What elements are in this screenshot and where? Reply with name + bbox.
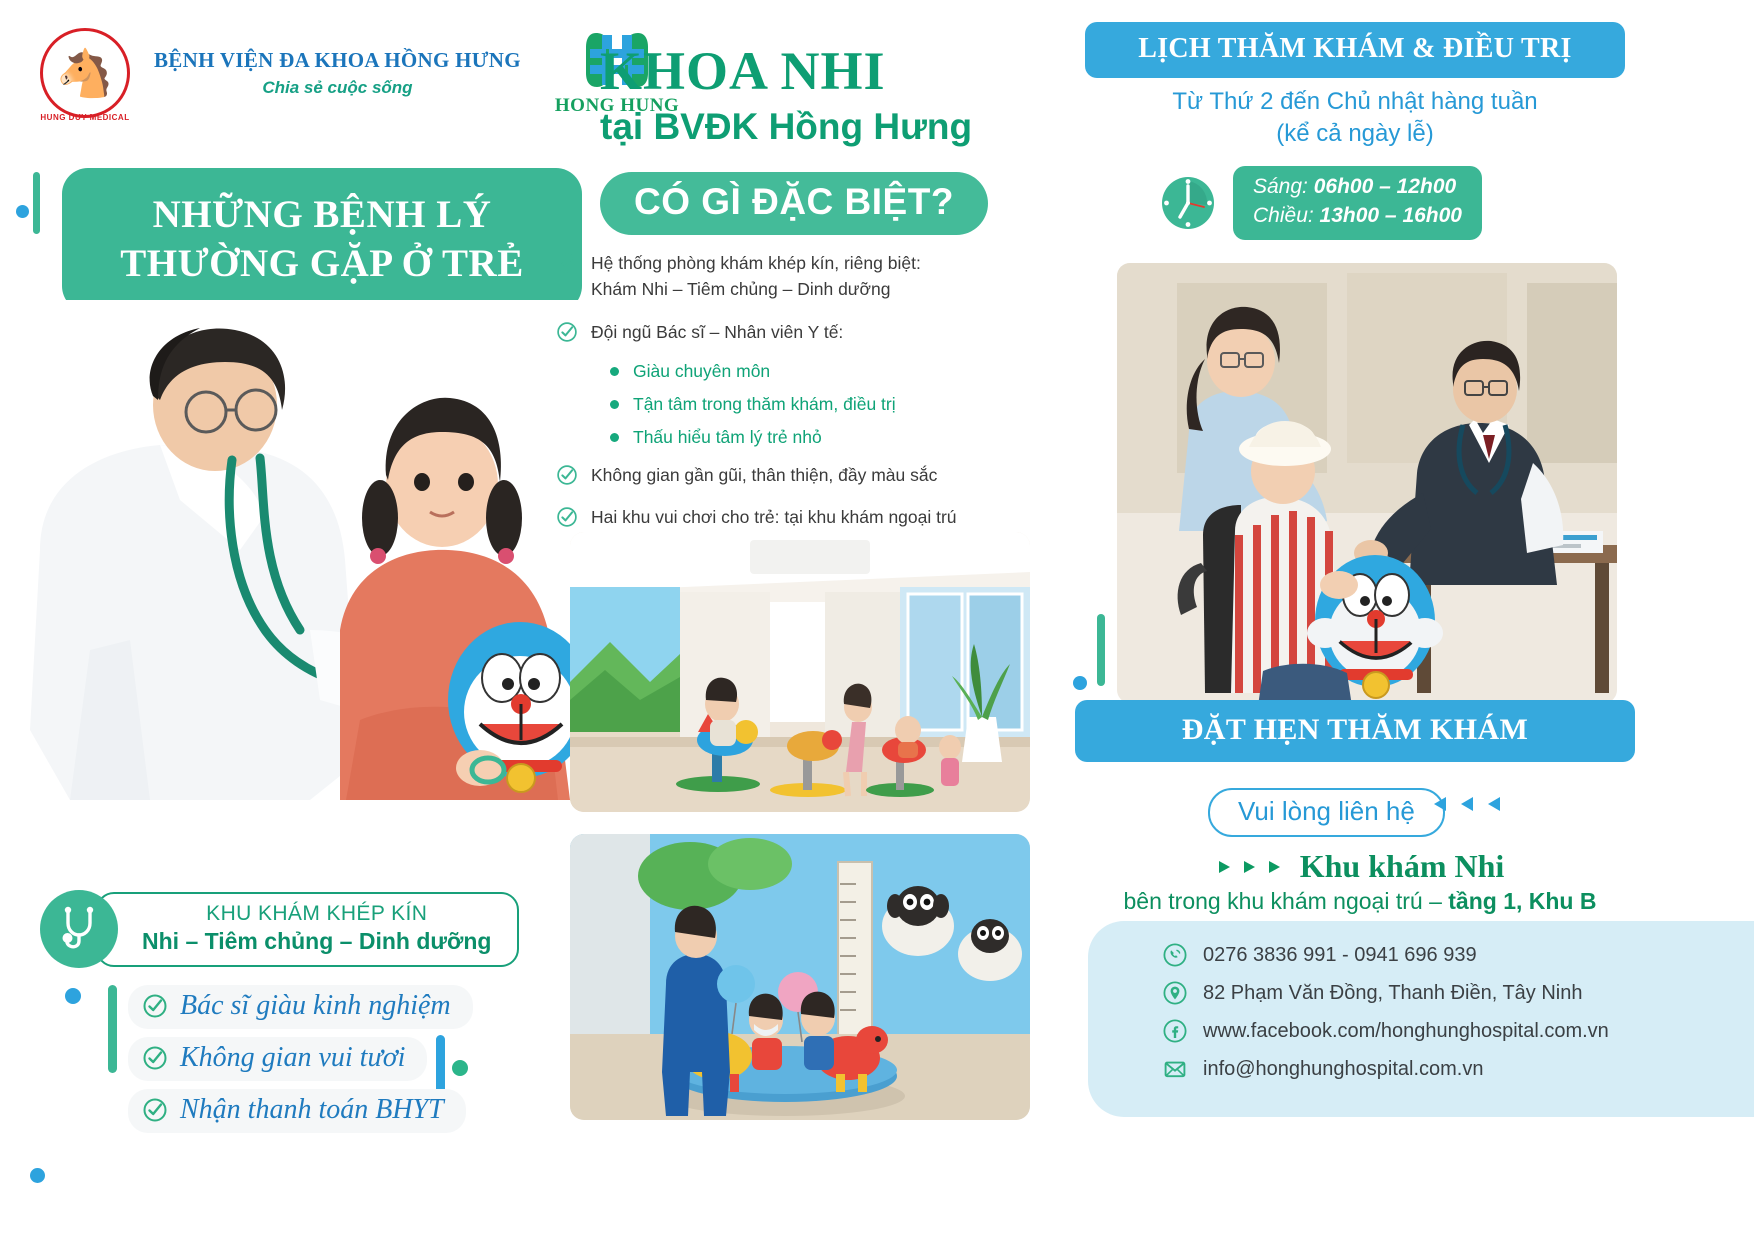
- schedule-banner: LỊCH THĂM KHÁM & ĐIỀU TRỊ: [1085, 22, 1625, 78]
- triangle-markers-right: [1216, 859, 1282, 875]
- department-title-row: Khu khám Nhi: [1080, 848, 1640, 885]
- hours-morning-label: Sáng:: [1253, 175, 1308, 198]
- page-title: KHOA NHI: [600, 40, 1070, 102]
- contact-row-email[interactable]: info@honghunghospital.com.vn: [1163, 1057, 1754, 1081]
- check-circle-icon: [556, 464, 578, 486]
- hung-duy-medical-logo: 🐴 HUNG DUY MEDICAL: [40, 28, 130, 118]
- bullet-dot-icon: [610, 400, 619, 409]
- hospital-slogan: Chia sẻ cuộc sống: [154, 78, 521, 98]
- deco-bar-teal-r: [1097, 614, 1105, 686]
- logo-ring-text: HUNG DUY MEDICAL: [40, 113, 129, 122]
- horse-icon: 🐴: [56, 50, 113, 96]
- list-item: Hệ thống phòng khám khép kín, riêng biệt…: [556, 250, 1056, 303]
- triangle-left-icon: [1432, 795, 1450, 813]
- hours-afternoon-value: 13h00 – 16h00: [1320, 204, 1462, 227]
- check-circle-icon: [142, 1045, 168, 1071]
- appointment-banner: ĐẶT HẸN THĂM KHÁM: [1075, 700, 1635, 762]
- contact-pill-label: Vui lòng liên hệ: [1238, 796, 1415, 826]
- list-item: Giàu chuyên môn: [610, 361, 1056, 382]
- list-item: Bác sĩ giàu kinh nghiệm: [128, 985, 473, 1029]
- email-icon: [1163, 1057, 1187, 1081]
- deco-dot-blue-left: [16, 205, 29, 218]
- contact-row-facebook[interactable]: www.facebook.com/honghunghospital.com.vn: [1163, 1019, 1754, 1043]
- left-benefits-list: Bác sĩ giàu kinh nghiệm Không gian vui t…: [128, 985, 473, 1141]
- deco-bar-teal-bl: [108, 985, 117, 1073]
- list-item: Nhận thanh toán BHYT: [128, 1089, 466, 1133]
- benefit-label: Nhận thanh toán BHYT: [180, 1094, 444, 1126]
- appointment-banner-label: ĐẶT HẸN THĂM KHÁM: [1182, 713, 1529, 746]
- schedule-text: Từ Thứ 2 đến Chủ nhật hàng tuần (kể cả n…: [1085, 86, 1625, 151]
- hours-morning: Sáng: 06h00 – 12h00: [1253, 173, 1462, 202]
- highlight-pill-label: CÓ GÌ ĐẶC BIỆT?: [634, 181, 954, 222]
- left-title-card: NHỮNG BỆNH LÝ THƯỜNG GẶP Ở TRẺ: [62, 168, 582, 312]
- list-item: Đội ngũ Bác sĩ – Nhân viên Y tế:: [556, 319, 1056, 345]
- list-item: Không gian vui tươi: [128, 1037, 427, 1081]
- contact-address: 82 Phạm Văn Đồng, Thanh Điền, Tây Ninh: [1203, 982, 1583, 1005]
- photo-inpatient-playroom: [570, 834, 1030, 1120]
- department-location-normal: bên trong khu khám ngoại trú –: [1124, 888, 1449, 914]
- left-title-line2: THƯỜNG GẶP Ở TRẺ: [80, 239, 564, 288]
- hours-afternoon-label: Chiều:: [1253, 204, 1314, 227]
- photo-doctor-examining-child: [10, 300, 590, 820]
- stethoscope-icon-circle: [40, 890, 118, 968]
- triangle-markers-left: [1432, 795, 1504, 813]
- contact-email: info@honghunghospital.com.vn: [1203, 1058, 1484, 1081]
- hours-morning-value: 06h00 – 12h00: [1314, 175, 1456, 198]
- opening-hours-row: Sáng: 06h00 – 12h00 Chiều: 13h00 – 16h00: [1157, 166, 1482, 240]
- location-pin-icon: [1163, 981, 1187, 1005]
- contact-facebook: www.facebook.com/honghunghospital.com.vn: [1203, 1020, 1609, 1043]
- badge-line-1: KHU KHÁM KHÉP KÍN: [142, 902, 491, 926]
- clock-icon: [1157, 172, 1219, 234]
- triangle-left-icon: [1459, 795, 1477, 813]
- contact-row-phone[interactable]: 0276 3836 991 - 0941 696 939: [1163, 943, 1754, 967]
- list-item: Thấu hiểu tâm lý trẻ nhỏ: [610, 427, 1056, 448]
- bullet-dot-icon: [610, 367, 619, 376]
- photo-outpatient-play-corridor: [570, 532, 1030, 812]
- department-location: bên trong khu khám ngoại trú – tầng 1, K…: [1080, 888, 1640, 915]
- benefit-label: Không gian vui tươi: [180, 1042, 405, 1074]
- quality-label: Tận tâm trong thăm khám, điều trị: [633, 394, 896, 415]
- deco-dot-blue-bl: [65, 988, 81, 1004]
- page-subtitle: tại BVĐK Hồng Hưng: [600, 106, 1070, 148]
- contact-phone: 0276 3836 991 - 0941 696 939: [1203, 944, 1477, 967]
- schedule-banner-label: LỊCH THĂM KHÁM & ĐIỀU TRỊ: [1138, 33, 1572, 64]
- closed-exam-area-badge: KHU KHÁM KHÉP KÍN Nhi – Tiêm chủng – Din…: [40, 890, 519, 968]
- department-location-bold: tầng 1, Khu B: [1448, 888, 1596, 914]
- triangle-right-icon: [1266, 859, 1282, 875]
- deco-dot-blue-b: [30, 1168, 45, 1183]
- hours-afternoon: Chiều: 13h00 – 16h00: [1253, 202, 1462, 231]
- deco-bar-teal-left: [33, 172, 40, 234]
- schedule-line-1: Từ Thứ 2 đến Chủ nhật hàng tuần: [1085, 86, 1625, 118]
- bullet-dot-icon: [610, 433, 619, 442]
- poster-root: 🐴 HUNG DUY MEDICAL BỆNH VIỆN ĐA KHOA HỒN…: [0, 0, 1754, 1241]
- main-title-block: KHOA NHI tại BVĐK Hồng Hưng: [600, 40, 1070, 148]
- stethoscope-icon: [55, 905, 103, 953]
- feature-label: Không gian gần gũi, thân thiện, đầy màu …: [591, 462, 937, 488]
- hospital-name-block: BỆNH VIỆN ĐA KHOA HỒNG HƯNG Chia sẻ cuộc…: [154, 48, 521, 98]
- highlight-pill: CÓ GÌ ĐẶC BIỆT?: [600, 172, 988, 235]
- triangle-left-icon: [1486, 795, 1504, 813]
- check-circle-icon: [556, 252, 578, 274]
- brand-header: 🐴 HUNG DUY MEDICAL BỆNH VIỆN ĐA KHOA HỒN…: [40, 28, 679, 118]
- benefit-label: Bác sĩ giàu kinh nghiệm: [180, 990, 451, 1022]
- feature-label: Hệ thống phòng khám khép kín, riêng biệt…: [591, 250, 921, 303]
- feature-label: Đội ngũ Bác sĩ – Nhân viên Y tế:: [591, 319, 843, 345]
- photo-doctor-consultation-room: [1112, 258, 1622, 708]
- check-circle-icon: [556, 506, 578, 528]
- check-circle-icon: [556, 321, 578, 343]
- contact-info-box: 0276 3836 991 - 0941 696 939 82 Phạm Văn…: [1088, 921, 1754, 1117]
- facebook-icon: [1163, 1019, 1187, 1043]
- hospital-name: BỆNH VIỆN ĐA KHOA HỒNG HƯNG: [154, 48, 521, 73]
- left-title-line1: NHỮNG BỆNH LÝ: [80, 190, 564, 239]
- list-item: Không gian gần gũi, thân thiện, đầy màu …: [556, 462, 1056, 488]
- triangle-right-icon: [1216, 859, 1232, 875]
- features-list: Hệ thống phòng khám khép kín, riêng biệt…: [556, 250, 1056, 573]
- check-circle-icon: [142, 993, 168, 1019]
- phone-icon: [1163, 943, 1187, 967]
- contact-pill: Vui lòng liên hệ: [1208, 788, 1445, 837]
- schedule-line-2: (kể cả ngày lễ): [1085, 118, 1625, 150]
- quality-label: Giàu chuyên môn: [633, 361, 770, 382]
- contact-row-address[interactable]: 82 Phạm Văn Đồng, Thanh Điền, Tây Ninh: [1163, 981, 1754, 1005]
- list-item: Tận tâm trong thăm khám, điều trị: [610, 394, 1056, 415]
- department-title: Khu khám Nhi: [1300, 848, 1505, 885]
- department-location-block: Khu khám Nhi bên trong khu khám ngoại tr…: [1080, 848, 1640, 915]
- triangle-right-icon: [1241, 859, 1257, 875]
- opening-hours-box: Sáng: 06h00 – 12h00 Chiều: 13h00 – 16h00: [1233, 166, 1482, 240]
- check-circle-icon: [142, 1097, 168, 1123]
- staff-qualities-list: Giàu chuyên môn Tận tâm trong thăm khám,…: [610, 361, 1056, 448]
- deco-dot-blue-r: [1073, 676, 1087, 690]
- quality-label: Thấu hiểu tâm lý trẻ nhỏ: [633, 427, 822, 448]
- closed-exam-area-text: KHU KHÁM KHÉP KÍN Nhi – Tiêm chủng – Din…: [96, 892, 519, 967]
- badge-line-2: Nhi – Tiêm chủng – Dinh dưỡng: [142, 928, 491, 955]
